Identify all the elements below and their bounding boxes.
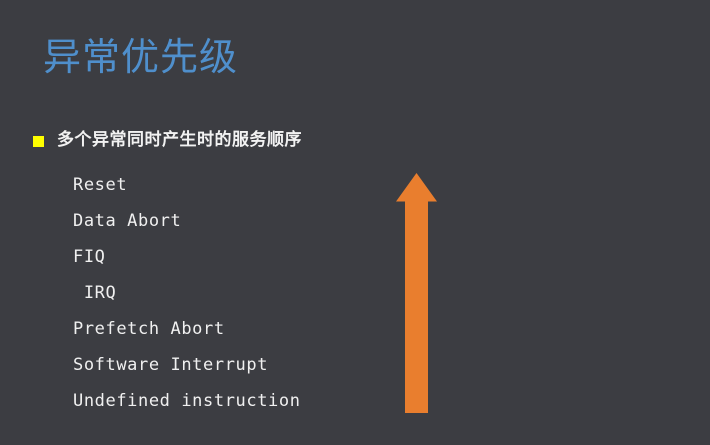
list-item: IRQ: [73, 275, 301, 311]
list-item: Reset: [73, 167, 301, 203]
list-item: FIQ: [73, 239, 301, 275]
slide-canvas: 异常优先级 多个异常同时产生时的服务顺序 Reset Data Abort FI…: [0, 0, 710, 445]
up-arrow-icon: [394, 170, 439, 416]
bullet-heading-label: 多个异常同时产生时的服务顺序: [57, 129, 302, 151]
up-arrow-shape: [396, 173, 437, 413]
page-title: 异常优先级: [43, 34, 238, 80]
list-item: Data Abort: [73, 203, 301, 239]
yellow-square-bullet-icon: [33, 136, 44, 147]
list-item: Undefined instruction: [73, 383, 301, 419]
bullet-heading-row: 多个异常同时产生时的服务顺序: [33, 129, 302, 151]
exception-priority-list: Reset Data Abort FIQ IRQ Prefetch Abort …: [73, 167, 301, 419]
list-item: Software Interrupt: [73, 347, 301, 383]
list-item: Prefetch Abort: [73, 311, 301, 347]
